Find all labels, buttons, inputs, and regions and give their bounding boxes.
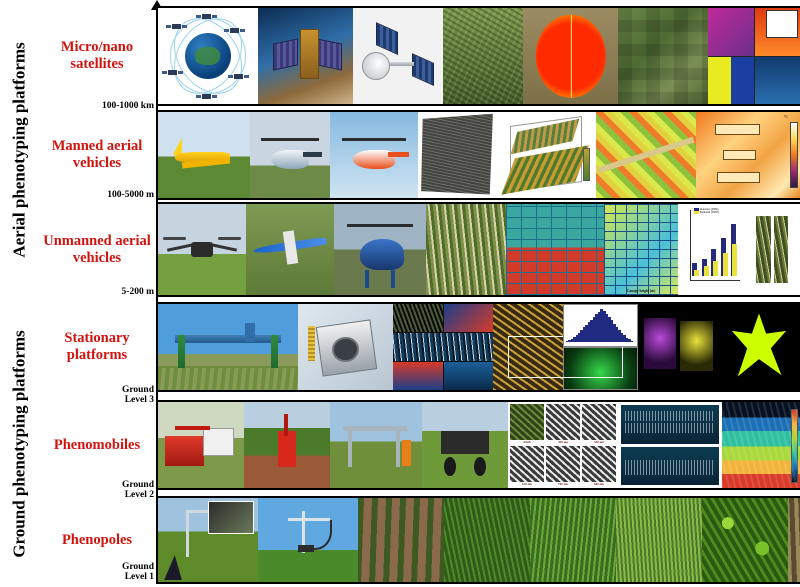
chart-legend: Reference (DSM) Estimated (NDVI): [694, 208, 719, 214]
panel-leaf-segmentation-mask: [718, 304, 800, 390]
panel-field-mosaic-satellite-image: [618, 8, 708, 104]
panel-thermal-field-map: °C: [696, 112, 800, 198]
tier-label-phenomobiles: Phenomobiles: [38, 400, 156, 490]
row-micro-nano-satellites: [158, 6, 800, 106]
panel-satellite-constellation-diagram: [158, 8, 258, 104]
panel-unmanned-helicopter-photo: [334, 204, 426, 295]
panel-maize-field-rover-photo: [244, 402, 330, 488]
panel-canopy-row-image-soil: [358, 498, 444, 582]
rgb-image: [493, 304, 563, 390]
tier-label-unmanned-aerial-vehicles: Unmanned aerial vehicles: [38, 202, 156, 297]
group-label-ground: Ground phenotyping platforms: [0, 300, 40, 587]
panel-thermal-lidar-scan: [722, 402, 800, 488]
histogram-panel: [563, 304, 638, 347]
panel-sensor-instrument-photo: [298, 304, 393, 390]
tier-label-text: Micro/nano satellites: [38, 39, 156, 72]
panel-helicopter-photo-blue: [250, 112, 330, 198]
row-phenopoles: [158, 496, 800, 584]
bar-1000-b: [732, 244, 737, 276]
row-manned-aerial-vehicles: °C: [158, 110, 800, 200]
panel-multispectral-panel-grid: [393, 304, 493, 390]
panel-helicopter-photo-orange: [330, 112, 418, 198]
panel-canopy-image-broadleaf: [702, 498, 788, 582]
panel-orbital-satellite-photo: [258, 8, 353, 104]
earth-icon: [185, 33, 231, 79]
panel-crop-strip-images: [744, 204, 800, 295]
panel-sensor-cart-photo: [330, 402, 422, 488]
panel-rgb-fluorescence-analysis: [493, 304, 638, 390]
panel-spatial-resolution-bar-chart: Reference (DSM) Estimated (NDVI): [678, 204, 744, 295]
temperature-colorbar: [790, 122, 798, 188]
panel-field-gantry-crane-photo: [158, 304, 298, 390]
tick-label-ground-level-3: Ground Level 3: [36, 385, 154, 406]
group-label-aerial: Aerial phenotyping platforms: [0, 0, 40, 300]
row-unmanned-aerial-vehicles: Canopy height (m) Reference (DSM) Estima…: [158, 202, 800, 297]
panel-crop-duster-airplane-photo: [158, 112, 250, 198]
panel-canopy-image-green: [530, 498, 616, 582]
bar-100-b: [713, 261, 718, 276]
tick-label-ground-level-2: Ground Level 2: [36, 480, 154, 501]
panel-hyperspectral-analysis-panels: [708, 8, 800, 104]
panel-canopy-image-wheat: [616, 498, 702, 582]
canopy-height-caption: Canopy height (m): [604, 289, 678, 293]
panel-grayscale-aerial-strip: [418, 112, 496, 198]
panel-multispectral-band-grid: RGB 450 nm 550 nm 670 nm 700 nm 800 nm: [508, 402, 618, 488]
panel-cable-suspended-sensor-photo: [258, 498, 358, 582]
legend-series-b: Estimated (NDVI): [700, 211, 719, 214]
panel-lidar-point-cloud-rows: [618, 402, 722, 488]
panel-canopy-height-heatmap: Canopy height (m): [604, 204, 678, 295]
tick-label-100-5000-m: 100-5000 m: [36, 190, 154, 200]
panel-plot-segmentation-map: [506, 204, 604, 295]
panel-canopy-image-green-dense: [444, 498, 530, 582]
tier-label-manned-aerial-vehicles: Manned aerial vehicles: [38, 110, 156, 200]
group-label-ground-text: Ground phenotyping platforms: [10, 330, 30, 557]
row-phenomobiles: RGB 450 nm 550 nm 670 nm 700 nm 800 nm: [158, 400, 800, 490]
row-stationary-platforms: [158, 302, 800, 392]
histogram-bar: [630, 341, 633, 342]
tier-label-stationary-platforms: Stationary platforms: [38, 302, 156, 392]
panel-ndvi-pivot-field-map: [523, 8, 618, 104]
panel-tractor-phenotyping-platform-photo: [158, 402, 244, 488]
bar-10-b: [694, 270, 699, 276]
thermal-unit-label: °C: [784, 114, 788, 119]
panel-pole-sensor-field-photo: [158, 498, 258, 582]
tier-label-text: Stationary platforms: [38, 330, 156, 363]
dish-antenna-icon: [362, 52, 390, 80]
panel-fixed-wing-uav-photo: [246, 204, 334, 295]
panel-ndvi-field-map: [596, 112, 696, 198]
panel-quadcopter-drone-photo: [158, 204, 246, 295]
bar-500-b: [723, 253, 728, 276]
tier-label-micro-nano-satellites: Micro/nano satellites: [38, 6, 156, 106]
panel-satellite-illustration: [353, 8, 443, 104]
bar-50-b: [704, 266, 709, 276]
panel-aerial-vegetation-image: [443, 8, 523, 104]
tick-label-5-200-m: 5-200 m: [36, 287, 154, 297]
pivot-circle: [535, 15, 605, 98]
panel-plant-fluorescence-images: [638, 304, 718, 390]
tick-label-ground-level-1: Ground Level 1: [36, 562, 154, 583]
panel-crop-canopy-aerial-image: [426, 204, 506, 295]
panel-canopy-image-senescent: [788, 498, 800, 582]
tier-label-text: Manned aerial vehicles: [38, 138, 156, 171]
tier-label-text: Unmanned aerial vehicles: [38, 233, 156, 266]
panel-point-cloud-3d-plot: [496, 112, 596, 198]
tier-label-text: Phenomobiles: [54, 437, 140, 454]
group-label-aerial-text: Aerial phenotyping platforms: [10, 42, 30, 257]
tick-label-100-1000-km: 100-1000 km: [36, 101, 154, 111]
panel-field-buggy-photo: [422, 402, 508, 488]
tier-label-text: Phenopoles: [62, 532, 132, 549]
